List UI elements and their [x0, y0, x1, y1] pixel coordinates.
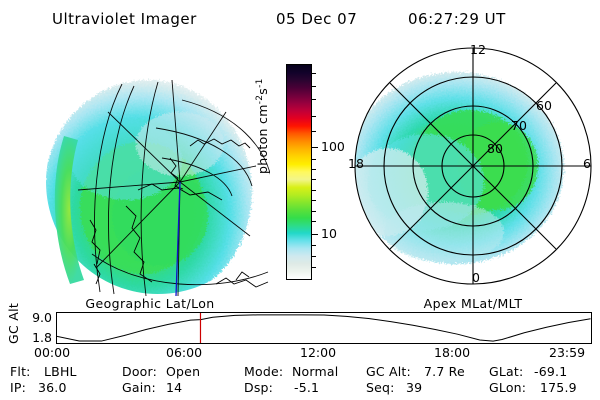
colorbar-title-main: photon cm — [255, 104, 270, 174]
colorbar-tick-label-10: 10 — [321, 228, 337, 241]
colorbar-minor-tick — [312, 169, 316, 170]
colorbar-minor-tick — [312, 86, 316, 87]
geographic-aurora-image — [30, 40, 270, 298]
colorbar-tick-label-100: 100 — [321, 141, 345, 154]
status-mode-key: Mode: — [244, 364, 283, 379]
status-ip-key: IP: — [10, 380, 26, 395]
colorbar-minor-tick — [312, 221, 316, 222]
apex-aurora-image — [348, 42, 598, 294]
time-tick-1800: 18:00 — [434, 347, 470, 360]
gc-alt-tick-low: 1.8 — [32, 332, 52, 345]
time-tick-0600: 06:00 — [166, 347, 202, 360]
time-tick-0000: 00:00 — [34, 347, 70, 360]
mlt-label-18: 18 — [348, 158, 364, 171]
status-glon-value: 175.9 — [540, 380, 577, 395]
apex-image-panel[interactable] — [348, 42, 598, 294]
colorbar-minor-tick — [312, 73, 316, 74]
geographic-image-panel[interactable] — [30, 40, 270, 298]
gc-alt-tick-high: 9.0 — [32, 312, 52, 325]
colorbar-minor-tick — [312, 190, 316, 191]
mlt-label-0: 0 — [472, 272, 480, 285]
mlat-label-60: 60 — [536, 100, 552, 113]
colorbar-tick-mark — [312, 147, 318, 148]
colorbar-minor-tick — [312, 159, 316, 160]
gc-alt-tick-group: 9.0 1.8 — [16, 312, 52, 344]
colorbar-minor-tick — [312, 200, 316, 201]
orbit-altitude-plot[interactable] — [56, 312, 592, 344]
geographic-panel-caption: Geographic Lat/Lon — [30, 296, 270, 311]
time-tick-2359: 23:59 — [549, 347, 585, 360]
status-flt-key: Flt: — [10, 364, 31, 379]
colorbar-minor-tick — [312, 179, 316, 180]
status-door-value: Open — [166, 364, 200, 379]
status-row-2: IP: 36.0 Gain: 14 Dsp: -5.1 Seq: 39 GLon… — [0, 380, 600, 396]
status-gain-value: 14 — [166, 380, 182, 395]
status-door-key: Door: — [122, 364, 157, 379]
apex-panel-caption: Apex MLat/MLT — [348, 296, 598, 311]
observation-time: 06:27:29 UT — [408, 10, 506, 28]
status-dsp-value: -5.1 — [294, 380, 319, 395]
time-tick-1200: 12:00 — [300, 347, 336, 360]
mlat-label-70: 70 — [511, 120, 527, 133]
mlat-label-80: 80 — [487, 143, 503, 156]
status-dsp-key: Dsp: — [244, 380, 273, 395]
colorbar-minor-tick — [312, 116, 316, 117]
colorbar-minor-tick — [312, 256, 316, 257]
status-block: Flt: LBHL Door: Open Mode: Normal GC Alt… — [0, 364, 600, 396]
status-gcalt-value: 7.7 Re — [424, 364, 465, 379]
status-mode-value: Normal — [292, 364, 338, 379]
status-gcalt-key: GC Alt: — [366, 364, 411, 379]
mlt-label-6: 6 — [583, 158, 591, 171]
status-gain-key: Gain: — [122, 380, 156, 395]
status-row-1: Flt: LBHL Door: Open Mode: Normal GC Alt… — [0, 364, 600, 380]
colorbar-minor-tick — [312, 245, 316, 246]
mlt-label-12: 12 — [470, 44, 486, 57]
orbit-altitude-curve — [57, 313, 591, 343]
colorbar-minor-tick — [312, 267, 316, 268]
colorbar-title-exp1: -2 — [255, 95, 265, 105]
colorbar-minor-tick — [312, 99, 316, 100]
colorbar-tick-mark — [312, 234, 318, 235]
header-bar: Ultraviolet Imager 05 Dec 07 06:27:29 UT — [0, 8, 600, 32]
colorbar-minor-tick — [312, 211, 316, 212]
colorbar-minor-tick — [312, 131, 316, 132]
status-glat-value: -69.1 — [534, 364, 567, 379]
observation-date: 05 Dec 07 — [276, 10, 357, 28]
colorbar-gradient — [286, 64, 312, 280]
colorbar[interactable] — [286, 64, 312, 280]
status-seq-key: Seq: — [366, 380, 395, 395]
instrument-title: Ultraviolet Imager — [52, 10, 197, 28]
status-glat-key: GLat: — [489, 364, 523, 379]
status-flt-value: LBHL — [44, 364, 77, 379]
colorbar-title-mid: s — [255, 88, 270, 95]
status-ip-value: 36.0 — [38, 380, 67, 395]
colorbar-axis-title: photon cm-2s-1 — [255, 78, 270, 174]
colorbar-title-exp2: -1 — [255, 78, 265, 88]
status-glon-key: GLon: — [489, 380, 526, 395]
status-seq-value: 39 — [406, 380, 422, 395]
